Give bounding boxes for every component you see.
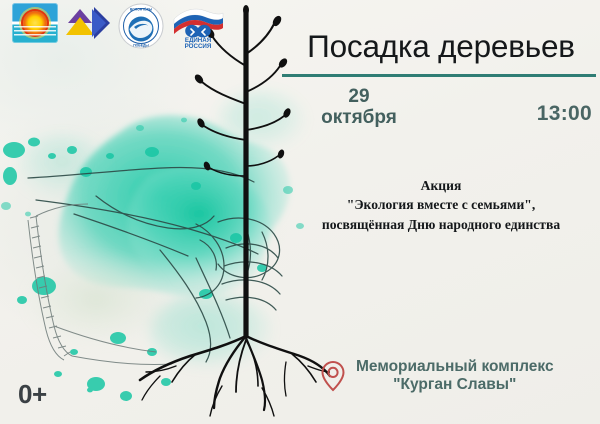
title-divider: [282, 74, 596, 77]
event-venue: Мемориальный комплекс "Курган Славы": [320, 358, 600, 395]
kamchatka-krai-emblem-icon: [12, 3, 58, 43]
venue-name: Мемориальный комплекс "Курган Славы": [356, 358, 554, 395]
poster-content: Посадка деревьев 29 октября 13:00 Акция …: [282, 0, 600, 424]
chevron-arrow-logo-icon: [66, 3, 110, 48]
volunteers-of-victory-logo-icon: ВОЛОНТЁРЫ ПОБЕДЫ: [118, 3, 164, 54]
description-line-3: посвящённая Дню народного единства: [282, 215, 600, 234]
event-time: 13:00: [537, 102, 592, 126]
age-rating-badge: 0+: [18, 379, 47, 410]
venue-line-1: Мемориальный комплекс: [356, 358, 554, 376]
page-title: Посадка деревьев: [282, 30, 600, 63]
svg-text:ВОЛОНТЁРЫ: ВОЛОНТЁРЫ: [130, 8, 153, 12]
description-line-2: "Экология вместе с семьями",: [282, 195, 600, 214]
event-description: Акция "Экология вместе с семьями", посвя…: [282, 176, 600, 234]
event-date: 29 октября: [294, 86, 424, 129]
event-day: 29: [294, 86, 424, 107]
watercolor-hand-tree-illustration: [0, 0, 330, 424]
waves-shape: [14, 26, 56, 36]
map-pin-icon: [320, 360, 346, 392]
united-russia-logo-icon: ЕДИНАЯ РОССИЯ: [172, 3, 224, 54]
venue-line-2: "Курган Славы": [356, 376, 554, 394]
description-line-1: Акция: [282, 176, 600, 195]
partner-logos: ВОЛОНТЁРЫ ПОБЕДЫ ЕДИНАЯ РОССИЯ: [12, 3, 224, 54]
event-poster: ВОЛОНТЁРЫ ПОБЕДЫ ЕДИНАЯ РОССИЯ: [0, 0, 600, 424]
event-month: октября: [294, 107, 424, 128]
event-datetime: 29 октября 13:00: [282, 86, 600, 142]
svg-text:РОССИЯ: РОССИЯ: [185, 43, 212, 49]
svg-text:ПОБЕДЫ: ПОБЕДЫ: [133, 44, 149, 48]
